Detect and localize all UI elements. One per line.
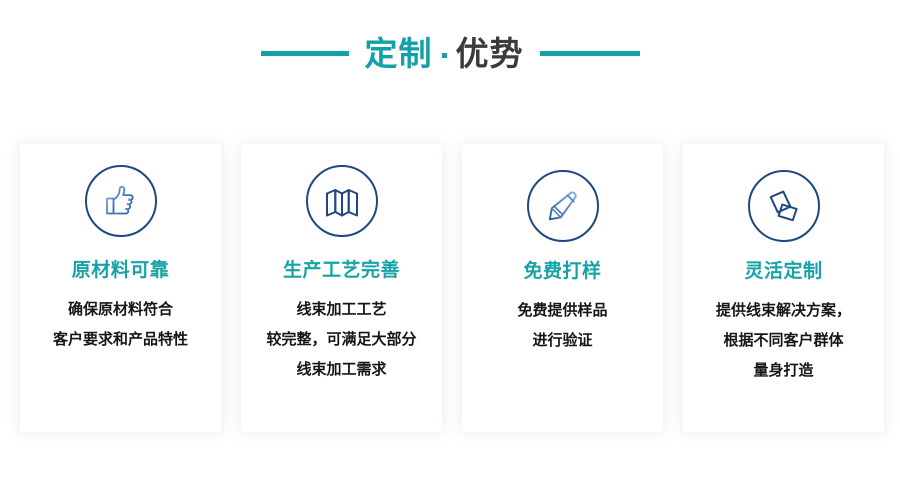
header-rule-left	[261, 51, 349, 56]
description-line: 线束加工工艺	[247, 295, 436, 325]
folded-map-icon	[306, 165, 378, 237]
header-title-main: 优势	[456, 37, 524, 70]
thumbs-up-icon	[85, 165, 157, 237]
description-line: 较完整，可满足大部分	[247, 325, 436, 355]
feature-card-description: 线束加工工艺 较完整，可满足大部分 线束加工需求	[241, 295, 442, 385]
description-line: 线束加工需求	[247, 355, 436, 385]
feature-card-title: 灵活定制	[744, 262, 822, 281]
feature-card[interactable]: 原材料可靠 确保原材料符合 客户要求和产品特性	[20, 144, 221, 432]
feature-card[interactable]: 免费打样 免费提供样品 进行验证	[462, 144, 663, 432]
description-line: 量身打造	[689, 356, 878, 386]
description-line: 确保原材料符合	[26, 295, 215, 325]
section-header: 定制 优势	[0, 0, 900, 120]
feature-card-title: 生产工艺完善	[283, 261, 400, 280]
description-line: 免费提供样品	[468, 296, 657, 326]
feature-card-description: 免费提供样品 进行验证	[462, 296, 663, 356]
feature-card[interactable]: 生产工艺完善 线束加工工艺 较完整，可满足大部分 线束加工需求	[241, 144, 442, 432]
description-line: 进行验证	[468, 326, 657, 356]
feature-card-description: 确保原材料符合 客户要求和产品特性	[20, 295, 221, 355]
header-rule-right	[540, 51, 640, 56]
header-title: 定制 优势	[365, 37, 524, 70]
feature-card-description: 提供线束解决方案， 根据不同客户群体 量身打造	[683, 296, 884, 386]
feature-card[interactable]: 灵活定制 提供线束解决方案， 根据不同客户群体 量身打造	[683, 144, 884, 432]
feature-card-title: 免费打样	[523, 262, 601, 281]
pencil-icon	[527, 170, 599, 242]
stacked-papers-icon	[748, 170, 820, 242]
header-title-accent: 定制	[365, 37, 433, 70]
header-title-separator-dot	[442, 53, 447, 58]
feature-card-list: 原材料可靠 确保原材料符合 客户要求和产品特性 生产工艺完善 线束加工工艺 较完…	[20, 144, 884, 432]
description-line: 提供线束解决方案，	[689, 296, 878, 326]
description-line: 客户要求和产品特性	[26, 325, 215, 355]
feature-card-title: 原材料可靠	[72, 261, 170, 280]
description-line: 根据不同客户群体	[689, 326, 878, 356]
section-header-inner: 定制 优势	[261, 37, 640, 70]
